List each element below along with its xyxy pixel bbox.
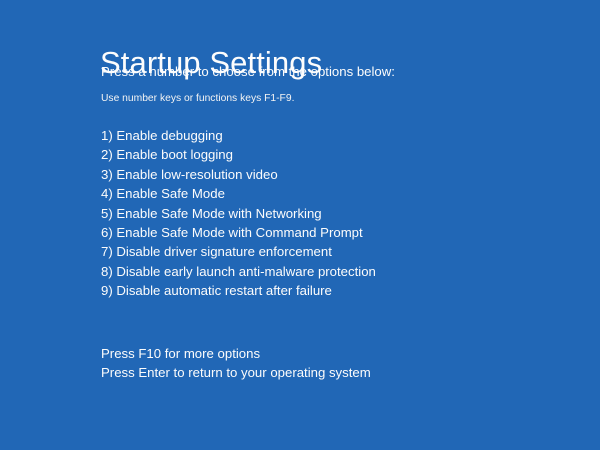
startup-option-2[interactable]: 2) Enable boot logging [101, 145, 376, 164]
startup-option-8[interactable]: 8) Disable early launch anti-malware pro… [101, 262, 376, 281]
startup-option-7[interactable]: 7) Disable driver signature enforcement [101, 242, 376, 261]
instruction-subtitle: Press a number to choose from the option… [101, 64, 395, 80]
startup-option-6[interactable]: 6) Enable Safe Mode with Command Prompt [101, 223, 376, 242]
startup-option-3[interactable]: 3) Enable low-resolution video [101, 165, 376, 184]
startup-settings-screen: Startup Settings Press a number to choos… [0, 0, 600, 450]
keyboard-hint-text: Use number keys or functions keys F1-F9. [101, 93, 294, 105]
startup-option-9[interactable]: 9) Disable automatic restart after failu… [101, 281, 376, 300]
startup-option-1[interactable]: 1) Enable debugging [101, 126, 376, 145]
startup-options-list: 1) Enable debugging 2) Enable boot loggi… [101, 126, 376, 301]
footer-actions: Press F10 for more options Press Enter t… [101, 344, 371, 383]
startup-option-4[interactable]: 4) Enable Safe Mode [101, 184, 376, 203]
return-to-os-action[interactable]: Press Enter to return to your operating … [101, 363, 371, 382]
startup-option-5[interactable]: 5) Enable Safe Mode with Networking [101, 204, 376, 223]
more-options-action[interactable]: Press F10 for more options [101, 344, 371, 363]
